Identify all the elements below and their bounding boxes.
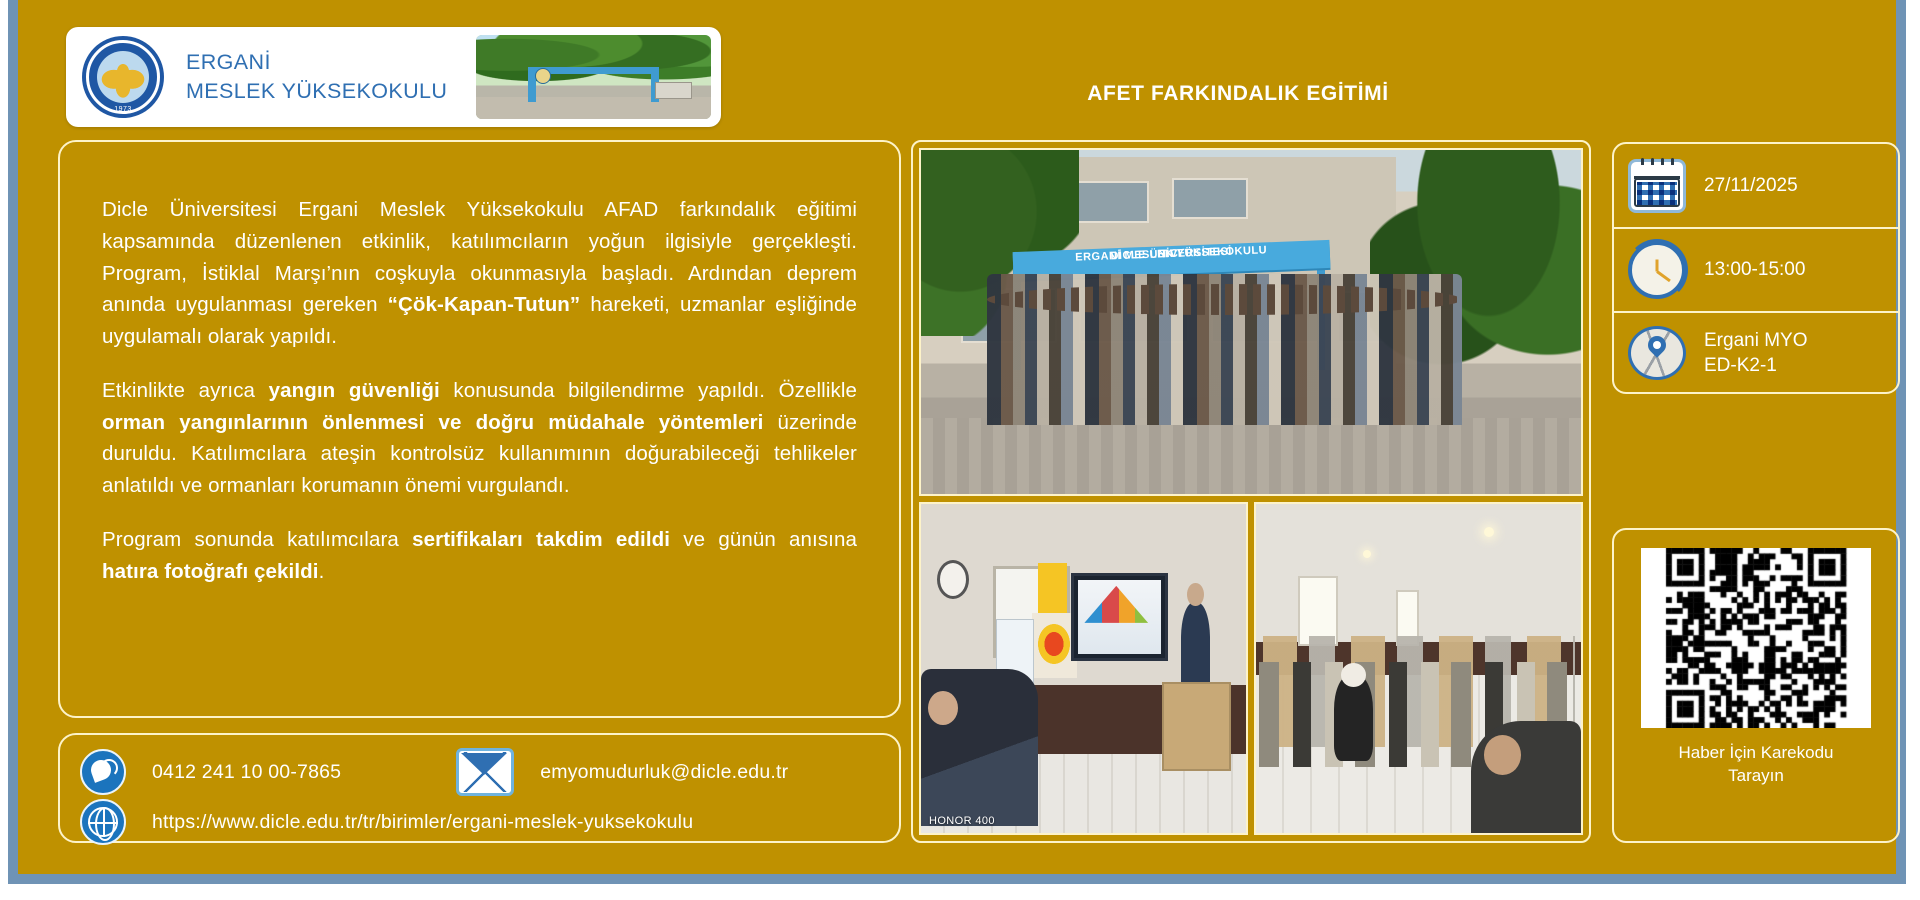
event-date: 27/11/2025 xyxy=(1704,173,1798,199)
calendar-icon xyxy=(1628,159,1686,213)
classroom-presentation-photo: HONOR 400 xyxy=(919,502,1248,835)
paragraph-3-part-2: ve günün anısına xyxy=(670,528,857,551)
paragraph-3-bold-2: hatıra fotoğrafı çekildi xyxy=(102,560,319,583)
institution-line-1: ERGANİ xyxy=(186,48,447,77)
qr-panel: Haber İçin Karekodu Tarayın xyxy=(1612,528,1900,843)
contact-panel: 0412 241 10 00-7865 emyomudurluk@dicle.e… xyxy=(58,733,901,843)
info-row-date: 27/11/2025 xyxy=(1614,144,1898,227)
header-card: 1973 ERGANİ MESLEK YÜKSEKOKULU xyxy=(66,27,721,127)
page-title: AFET FARKINDALIK EGİTİMİ xyxy=(1038,82,1438,106)
email-block: emyomudurluk@dicle.edu.tr xyxy=(456,748,788,796)
paragraph-1-bold: “Çök-Kapan-Tutun” xyxy=(388,293,581,316)
phone-icon xyxy=(80,749,126,795)
clock-icon xyxy=(1628,241,1686,299)
mail-icon xyxy=(456,748,514,796)
paragraph-2: Etkinlikte ayrıca yangın güvenliği konus… xyxy=(102,375,857,502)
paragraph-2-bold-2: orman yangınlarının önlenmesi ve doğru m… xyxy=(102,411,763,434)
location-line-1: Ergani MYO xyxy=(1704,328,1807,354)
paragraph-3-bold-1: sertifikaları takdim edildi xyxy=(412,528,670,551)
contact-row-website: https://www.dicle.edu.tr/tr/birimler/erg… xyxy=(80,797,879,847)
poster-canvas: 1973 ERGANİ MESLEK YÜKSEKOKULU AFET FARK… xyxy=(18,0,1896,874)
info-row-location: Ergani MYO ED-K2-1 xyxy=(1614,311,1898,394)
info-row-time: 13:00-15:00 xyxy=(1614,227,1898,310)
qr-label: Haber İçin Karekodu Tarayın xyxy=(1679,742,1834,788)
article-text-panel: Dicle Üniversitesi Ergani Meslek Yükseko… xyxy=(58,140,901,718)
event-time: 13:00-15:00 xyxy=(1704,257,1805,283)
photo-bottom-row: HONOR 400 xyxy=(919,502,1583,835)
campus-gate-photo xyxy=(476,35,711,119)
qr-code-icon[interactable] xyxy=(1641,548,1871,728)
location-line-2: ED-K2-1 xyxy=(1704,353,1807,379)
globe-icon xyxy=(80,799,126,845)
paragraph-2-bold-1: yangın güvenliği xyxy=(269,379,440,402)
map-pin-icon xyxy=(1628,326,1686,380)
qr-label-line-1: Haber İçin Karekodu xyxy=(1679,742,1834,765)
earthquake-drill-photo xyxy=(1254,502,1583,835)
paragraph-3: Program sonunda katılımcılara sertifikal… xyxy=(102,524,857,588)
email-address[interactable]: emyomudurluk@dicle.edu.tr xyxy=(540,761,788,784)
paragraph-3-part-1: Program sonunda katılımcılara xyxy=(102,528,412,551)
photo-collage: T.C. DİCLE ÜNİVERSİTESİ ERGANİ MESLEK YÜ… xyxy=(911,140,1591,843)
qr-label-line-2: Tarayın xyxy=(1679,765,1834,788)
phone-number[interactable]: 0412 241 10 00-7865 xyxy=(152,761,341,784)
contact-row-phone-email: 0412 241 10 00-7865 emyomudurluk@dicle.e… xyxy=(80,747,879,797)
website-url[interactable]: https://www.dicle.edu.tr/tr/birimler/erg… xyxy=(152,811,693,834)
group-photo: T.C. DİCLE ÜNİVERSİTESİ ERGANİ MESLEK YÜ… xyxy=(919,148,1583,496)
photo-watermark: HONOR 400 xyxy=(929,815,995,827)
event-location: Ergani MYO ED-K2-1 xyxy=(1704,328,1807,379)
institution-name: ERGANİ MESLEK YÜKSEKOKULU xyxy=(186,48,447,106)
paragraph-2-part-1: Etkinlikte ayrıca xyxy=(102,379,269,402)
paragraph-1: Dicle Üniversitesi Ergani Meslek Yükseko… xyxy=(102,194,857,353)
poster-root: 1973 ERGANİ MESLEK YÜKSEKOKULU AFET FARK… xyxy=(0,0,1920,900)
dicle-universitesi-logo-icon: 1973 xyxy=(82,36,164,118)
event-info-panel: 27/11/2025 13:00-15:00 Ergani MYO ED-K2-… xyxy=(1612,142,1900,394)
paragraph-3-part-3: . xyxy=(319,560,325,583)
institution-line-2: MESLEK YÜKSEKOKULU xyxy=(186,77,447,106)
logo-year: 1973 xyxy=(82,106,164,113)
paragraph-2-part-2: konusunda bilgilendirme yapıldı. Özellik… xyxy=(440,379,857,402)
